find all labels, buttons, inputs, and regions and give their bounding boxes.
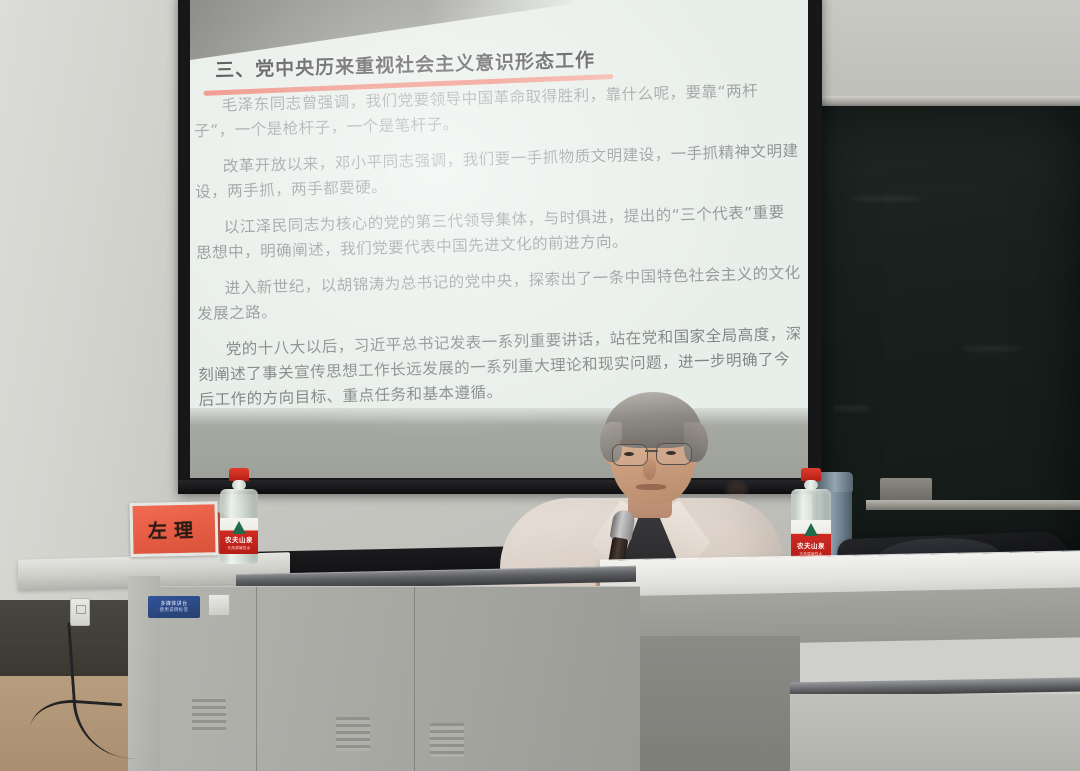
lecture-photo-scene: 三、党中央历来重视社会主义意识形态工作 毛泽东同志曾强调，我们党要领导中国革命取… [0, 0, 1080, 771]
chalk-eraser [880, 478, 932, 502]
power-cord [28, 697, 122, 766]
bottle-sublabel: 天然弱碱性水 [227, 546, 250, 551]
chalk-smudge [962, 346, 1022, 351]
mountain-logo-icon [804, 523, 818, 536]
cabinet-vent [192, 699, 226, 733]
sticker-line-1: 多媒体讲台 [160, 601, 187, 608]
cheek [726, 482, 748, 498]
nameplate-text: 左理 [148, 515, 201, 543]
slide-paragraph: 改革开放以来，邓小平同志强调，我们要一手抓物质文明建设，一手抓精神文明建设，两手… [195, 139, 800, 205]
podium-info-sticker: 多媒体讲台 使用说明标签 [148, 596, 200, 618]
eyeglasses-bridge [645, 450, 658, 452]
water-bottle: 农夫山泉 天然弱碱性水 [220, 468, 258, 564]
cabinet-seam [256, 587, 257, 771]
nameplate-card: 左理 [129, 501, 218, 557]
podium-serial-sticker [208, 594, 230, 616]
chalk-smudge [852, 196, 922, 201]
sticker-line-2: 使用说明标签 [160, 608, 189, 614]
mouth [636, 484, 666, 490]
bottle-label: 农夫山泉 天然弱碱性水 [220, 518, 258, 554]
nose [643, 458, 656, 480]
slide-paragraph: 进入新世纪，以胡锦涛为总书记的党中央，探索出了一条中国特色社会主义的文化发展之路… [197, 261, 802, 327]
chalk-smudge [832, 406, 872, 411]
mountain-logo-icon [232, 521, 246, 534]
right-cabinet [790, 694, 1080, 771]
nameplate: 左理 [125, 497, 234, 561]
bottle-brand: 农夫山泉 [797, 542, 825, 550]
eye-right [666, 451, 676, 455]
cabinet-vent [430, 723, 464, 757]
slide-paragraph: 以江泽民同志为核心的党的第三代领导集体，与时俱进，提出的“三个代表”重要思想中，… [196, 200, 801, 266]
cabinet-vent [336, 717, 370, 751]
blackboard-ledge [866, 500, 1080, 510]
eye-left [624, 452, 634, 456]
cabinet-seam [414, 587, 415, 771]
slide-body: 毛泽东同志曾强调，我们党要领导中国革命取得胜利，靠什么呢，要靠“两杆子”，一个是… [194, 78, 803, 424]
bottle-brand: 农夫山泉 [225, 536, 253, 544]
